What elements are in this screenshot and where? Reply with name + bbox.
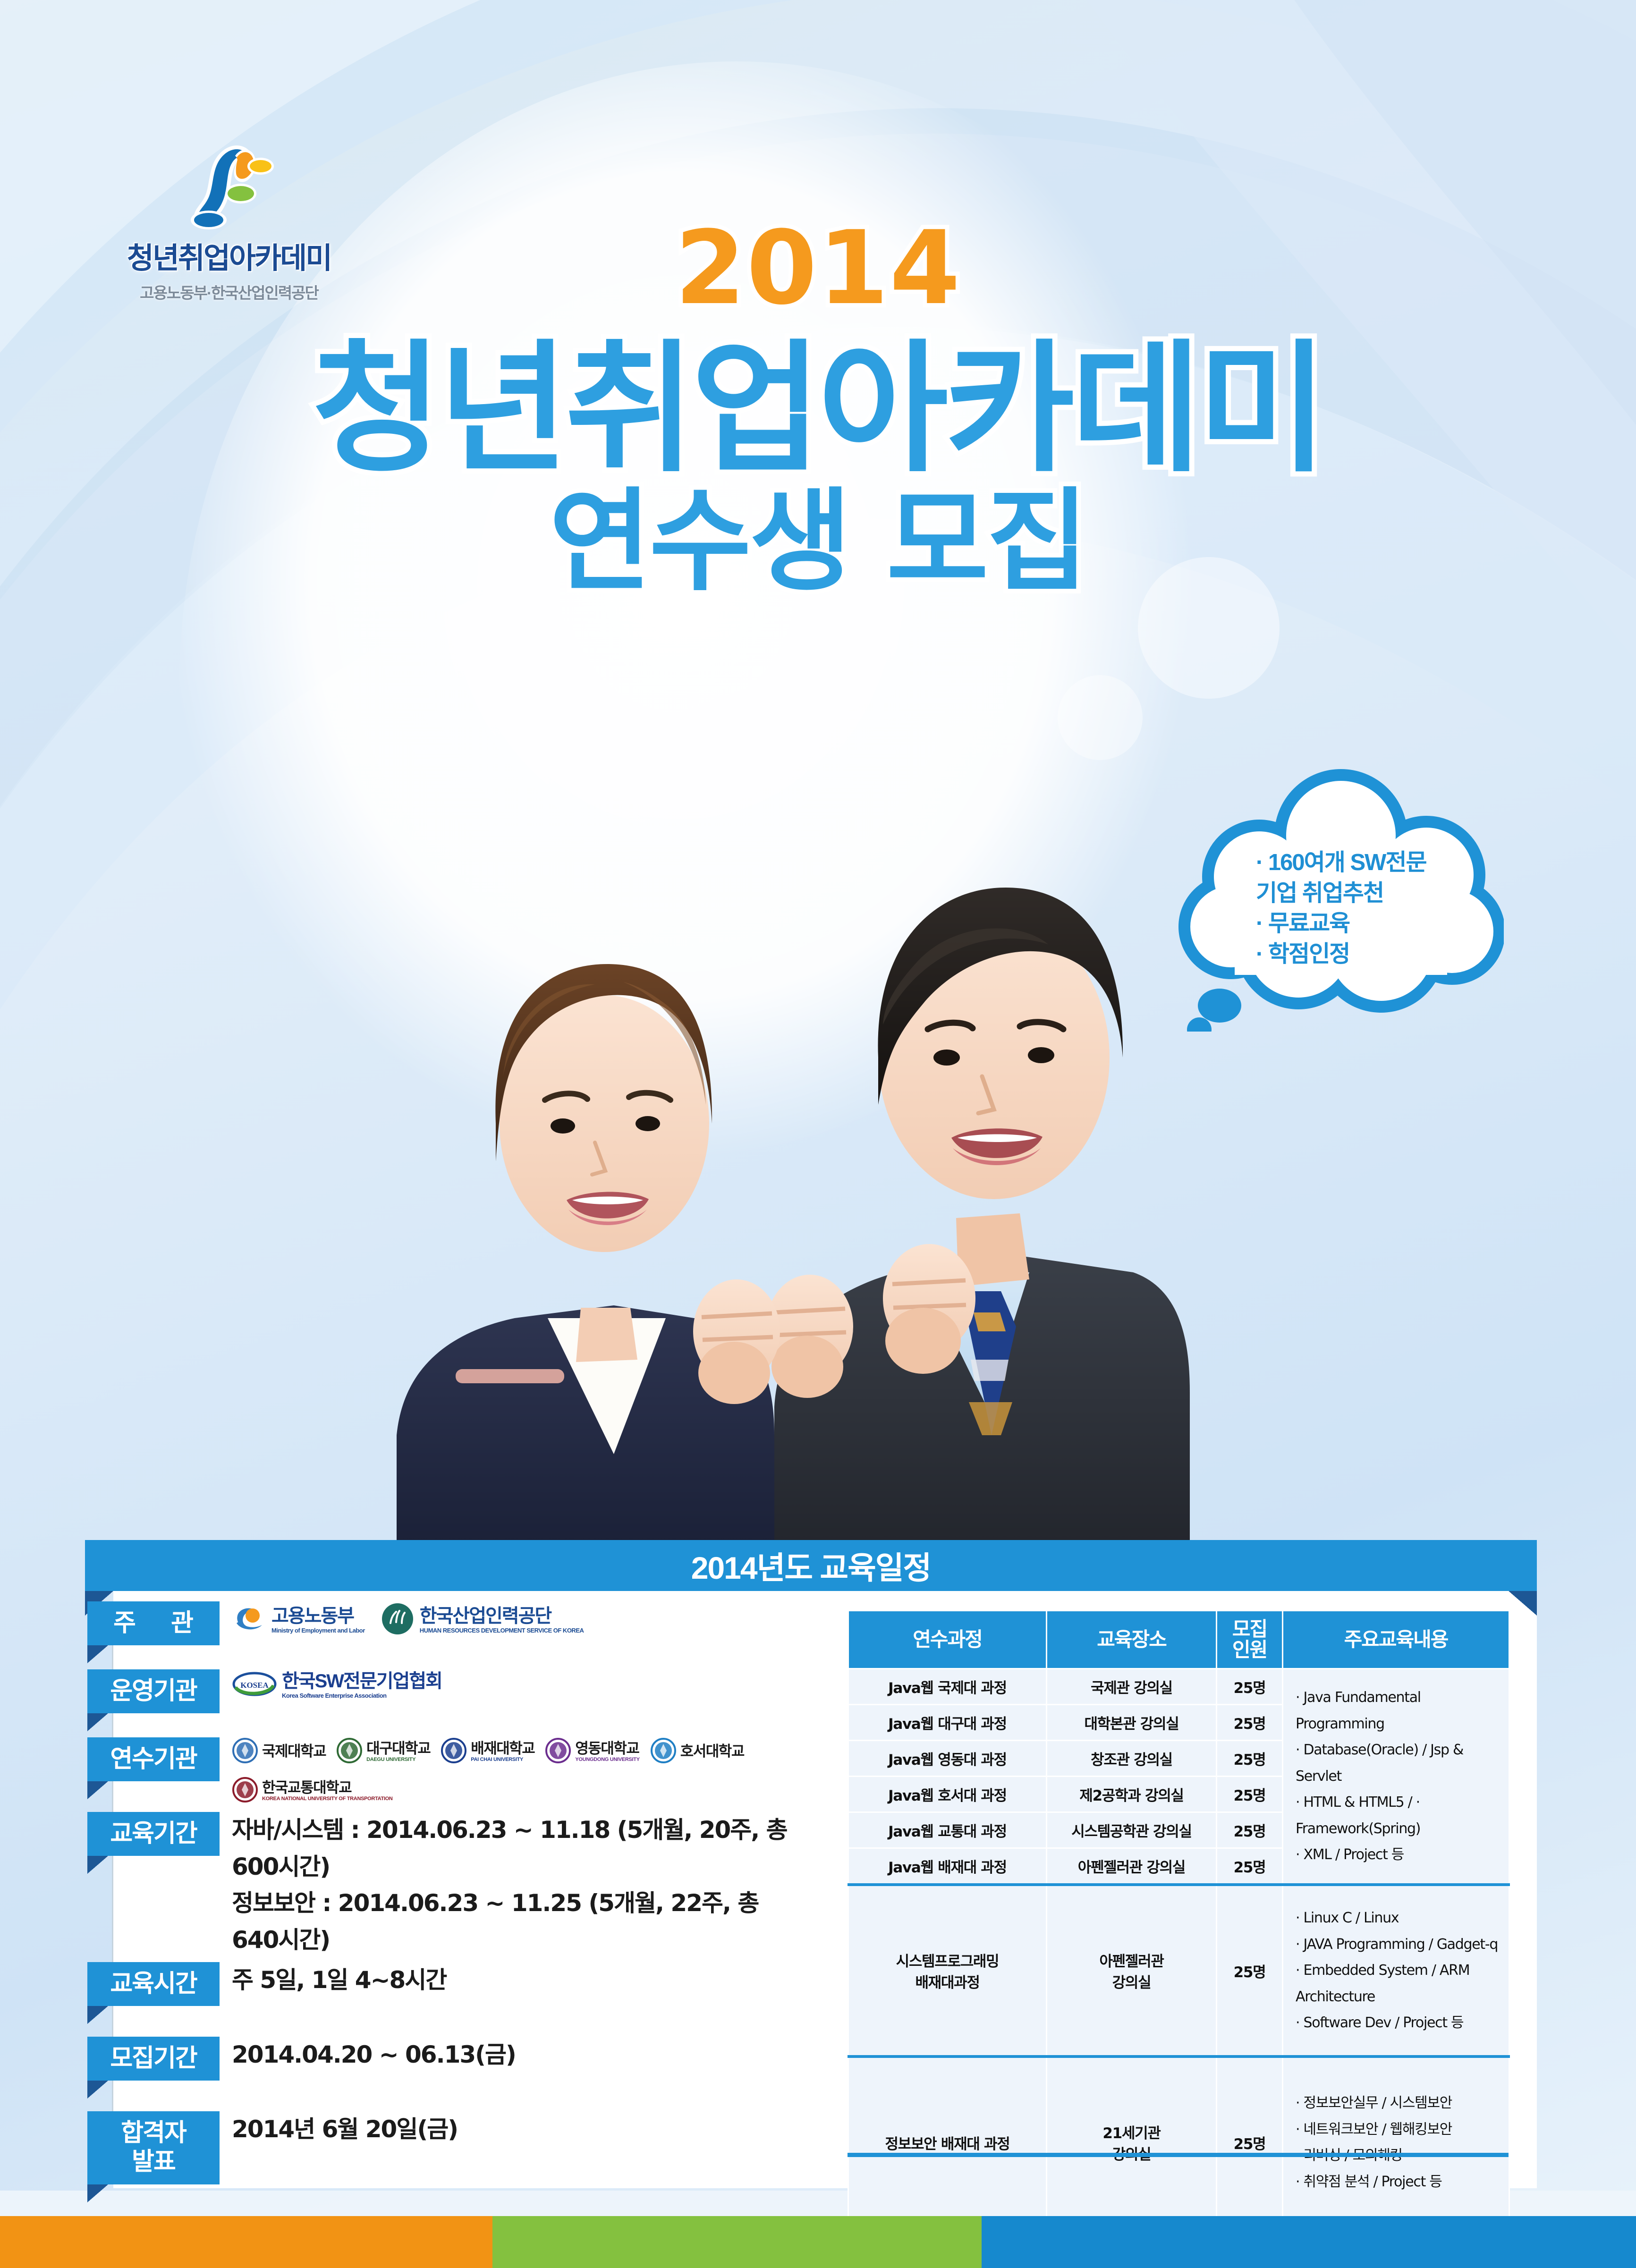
course-place-cell: 아펜젤러관강의실 bbox=[1047, 1885, 1217, 2056]
university-text: 호서대학교 bbox=[680, 1744, 744, 1760]
course-content-cell: · Linux C / Linux· JAVA Programming / Ga… bbox=[1283, 1885, 1509, 2056]
headline-year: 2014 bbox=[0, 217, 1636, 319]
course-content-line: · 정보보안실무 / 시스템보안 bbox=[1296, 2090, 1505, 2116]
label-char: 주 bbox=[113, 1609, 136, 1638]
university-logo-row: 국제대학교대구대학교DAEGU UNIVERSITY배재대학교PAI CHAI … bbox=[232, 1737, 805, 1805]
info-row-label: 주관 bbox=[87, 1601, 220, 1645]
course-quota-cell: 25명 bbox=[1217, 1777, 1283, 1812]
info-row-body: 고용노동부Ministry of Employment and Labor한국산… bbox=[220, 1601, 805, 1639]
info-text-line: 자바/시스템 : 2014.06.23 ~ 11.18 (5개월, 20주, 총… bbox=[232, 1812, 805, 1885]
university-text: 국제대학교 bbox=[262, 1744, 326, 1760]
info-row: 교육기간자바/시스템 : 2014.06.23 ~ 11.18 (5개월, 20… bbox=[87, 1812, 805, 1958]
poster-headline: 2014 청년취업아카데미 연수생 모집 bbox=[0, 217, 1636, 603]
course-place-cell: 창조관 강의실 bbox=[1047, 1741, 1217, 1777]
org-logo: 한국산업인력공단HUMAN RESOURCES DEVELOPMENT SERV… bbox=[380, 1601, 584, 1639]
course-quota-cell: 25명 bbox=[1217, 1669, 1283, 1705]
info-row: 주관고용노동부Ministry of Employment and Labor한… bbox=[87, 1601, 805, 1666]
info-row-body: 국제대학교대구대학교DAEGU UNIVERSITY배재대학교PAI CHAI … bbox=[220, 1737, 805, 1805]
university-name-en: KOREA NATIONAL UNIVERSITY OF TRANSPORTAT… bbox=[262, 1796, 393, 1802]
course-place-cell: 시스템공학관 강의실 bbox=[1047, 1812, 1217, 1848]
org-logo-text: 한국SW전문기업협회Korea Software Enterprise Asso… bbox=[282, 1672, 442, 1699]
schedule-banner: 2014년도 교육일정 bbox=[85, 1540, 1537, 1591]
info-row: 연수기관국제대학교대구대학교DAEGU UNIVERSITY배재대학교PAI C… bbox=[87, 1737, 805, 1808]
moel-circle-icon bbox=[232, 1601, 267, 1639]
university-logo: 한국교통대학교KOREA NATIONAL UNIVERSITY OF TRAN… bbox=[232, 1777, 393, 1805]
course-quota-cell: 25명 bbox=[1217, 1812, 1283, 1848]
university-logo: 대구대학교DAEGU UNIVERSITY bbox=[336, 1737, 430, 1766]
benefit-line-1: · 160여개 SW전문 bbox=[1256, 847, 1478, 878]
bar-segment-green bbox=[492, 2216, 982, 2268]
course-quota-cell: 25명 bbox=[1217, 1705, 1283, 1741]
info-row-body: KOSEA한국SW전문기업협회Korea Software Enterprise… bbox=[220, 1669, 805, 1701]
course-place-cell: 아펜젤러관 강의실 bbox=[1047, 1848, 1217, 1885]
kntu-univ-icon bbox=[232, 1777, 258, 1805]
kosea-oval-icon: KOSEA bbox=[232, 1669, 277, 1701]
course-quota-cell: 25명 bbox=[1217, 1885, 1283, 2056]
label-fold bbox=[87, 2081, 108, 2099]
course-course-cell: 정보보안 배재대 과정 bbox=[848, 2056, 1047, 2228]
course-course-cell: Java웹 국제대 과정 bbox=[848, 1669, 1047, 1705]
daegu-univ-icon bbox=[336, 1737, 363, 1766]
female-student bbox=[397, 964, 780, 1544]
university-text: 배재대학교PAI CHAI UNIVERSITY bbox=[471, 1741, 534, 1762]
info-list: 주관고용노동부Ministry of Employment and Labor한… bbox=[87, 1601, 805, 2205]
info-text-line: 2014.04.20 ~ 06.13(금) bbox=[232, 2037, 805, 2073]
students-photo bbox=[359, 699, 1190, 1544]
course-place-cell: 국제관 강의실 bbox=[1047, 1669, 1217, 1705]
org-name-ko: 한국산업인력공단 bbox=[420, 1607, 584, 1625]
org-name-en: HUMAN RESOURCES DEVELOPMENT SERVICE OF K… bbox=[420, 1627, 584, 1633]
bar-segment-blue bbox=[982, 2216, 1636, 2268]
benefit-line-2: 기업 취업추천 bbox=[1256, 878, 1478, 909]
org-logo: 고용노동부Ministry of Employment and Labor bbox=[232, 1601, 365, 1639]
course-course-cell: Java웹 호서대 과정 bbox=[848, 1777, 1047, 1812]
university-name-ko: 영동대학교 bbox=[575, 1741, 639, 1756]
info-row-label: 합격자발표 bbox=[87, 2111, 220, 2184]
course-place-cell: 대학본관 강의실 bbox=[1047, 1705, 1217, 1741]
benefit-line-4: · 학점인정 bbox=[1256, 939, 1478, 970]
table-row: Java웹 국제대 과정국제관 강의실25명· Java Fundamental… bbox=[848, 1669, 1509, 1705]
university-logo: 호서대학교 bbox=[650, 1737, 744, 1766]
course-table-header-cell: 연수과정 bbox=[848, 1611, 1047, 1669]
info-row-body: 자바/시스템 : 2014.06.23 ~ 11.18 (5개월, 20주, 총… bbox=[220, 1812, 805, 1958]
info-text-line: 주 5일, 1일 4~8시간 bbox=[232, 1962, 805, 1999]
info-row-body: 2014.04.20 ~ 06.13(금) bbox=[220, 2037, 805, 2073]
course-content-cell: · 정보보안실무 / 시스템보안· 네트워크보안 / 웹해킹보안· 리버싱 / … bbox=[1283, 2056, 1509, 2228]
course-quota-cell: 25명 bbox=[1217, 1848, 1283, 1885]
info-row: 합격자발표2014년 6월 20일(금) bbox=[87, 2111, 805, 2201]
course-course-cell: Java웹 대구대 과정 bbox=[848, 1705, 1047, 1741]
course-table-header-cell: 주요교육내용 bbox=[1283, 1611, 1509, 1669]
university-name-ko: 대구대학교 bbox=[366, 1741, 430, 1756]
university-logo: 국제대학교 bbox=[232, 1737, 326, 1766]
university-name-ko: 한국교통대학교 bbox=[262, 1780, 393, 1795]
course-course-cell: 시스템프로그래밍배재대과정 bbox=[848, 1885, 1047, 2056]
university-name-ko: 국제대학교 bbox=[262, 1744, 326, 1759]
university-name-ko: 배재대학교 bbox=[471, 1741, 534, 1756]
info-row-body: 주 5일, 1일 4~8시간 bbox=[220, 1962, 805, 1999]
org-name-en: Korea Software Enterprise Association bbox=[282, 1693, 442, 1699]
label-char: 관 bbox=[171, 1609, 194, 1638]
label-fold bbox=[87, 1856, 108, 1874]
youngdong-univ-icon bbox=[545, 1737, 571, 1766]
headline-line2: 연수생 모집 bbox=[0, 481, 1636, 603]
university-text: 영동대학교YOUNGDONG UNIVERSITY bbox=[575, 1741, 639, 1762]
label-fold bbox=[87, 1713, 108, 1731]
info-row: 운영기관KOSEA한국SW전문기업협회Korea Software Enterp… bbox=[87, 1669, 805, 1734]
male-student bbox=[766, 888, 1190, 1544]
hoseo-univ-icon bbox=[650, 1737, 677, 1766]
course-content-line: · Software Dev / Project 등 bbox=[1296, 2010, 1505, 2036]
university-name-en: PAI CHAI UNIVERSITY bbox=[471, 1757, 534, 1762]
course-course-cell: Java웹 영동대 과정 bbox=[848, 1741, 1047, 1777]
university-name-en: YOUNGDONG UNIVERSITY bbox=[575, 1757, 639, 1762]
university-name-en: DAEGU UNIVERSITY bbox=[366, 1757, 430, 1762]
course-table-bottom-rule bbox=[848, 2153, 1509, 2157]
schedule-banner-title: 2014년도 교육일정 bbox=[691, 1543, 931, 1588]
course-content-line: · HTML & HTML5 / · Framework(Spring) bbox=[1296, 1789, 1505, 1842]
course-quota-cell: 25명 bbox=[1217, 1741, 1283, 1777]
bottom-color-bar bbox=[0, 2216, 1636, 2268]
organization-logo-row: 고용노동부Ministry of Employment and Labor한국산… bbox=[232, 1601, 805, 1639]
bar-segment-orange bbox=[0, 2216, 492, 2268]
info-row-label: 모집기간 bbox=[87, 2037, 220, 2081]
university-logo: 배재대학교PAI CHAI UNIVERSITY bbox=[441, 1737, 534, 1766]
info-row-label: 교육기간 bbox=[87, 1812, 220, 1856]
label-fold bbox=[87, 1781, 108, 1799]
course-content-line: · Linux C / Linux bbox=[1296, 1905, 1505, 1931]
svg-text:KOSEA: KOSEA bbox=[240, 1681, 269, 1690]
course-content-line: · Database(Oracle) / Jsp & Servlet bbox=[1296, 1737, 1505, 1789]
organization-logo-row: KOSEA한국SW전문기업협회Korea Software Enterprise… bbox=[232, 1669, 805, 1701]
course-table: 연수과정교육장소모집인원주요교육내용Java웹 국제대 과정국제관 강의실25명… bbox=[848, 1610, 1510, 2228]
label-fold bbox=[87, 1645, 108, 1663]
info-row-label: 교육시간 bbox=[87, 1962, 220, 2006]
info-row: 교육시간주 5일, 1일 4~8시간 bbox=[87, 1962, 805, 2033]
benefits-text: · 160여개 SW전문 기업 취업추천 · 무료교육 · 학점인정 bbox=[1256, 847, 1478, 970]
university-logo: 영동대학교YOUNGDONG UNIVERSITY bbox=[545, 1737, 639, 1766]
course-quota-cell: 25명 bbox=[1217, 2056, 1283, 2228]
course-content-line: · XML / Project 등 bbox=[1296, 1842, 1505, 1868]
headline-line1: 청년취업아카데미 bbox=[0, 333, 1636, 486]
label-fold bbox=[87, 2006, 108, 2024]
hrdkorea-circle-icon bbox=[380, 1601, 415, 1639]
course-content-line: · 네트워크보안 / 웹해킹보안 bbox=[1296, 2116, 1505, 2143]
label-fold bbox=[87, 2184, 108, 2202]
paichai-univ-icon bbox=[441, 1737, 467, 1766]
university-text: 대구대학교DAEGU UNIVERSITY bbox=[366, 1741, 430, 1762]
org-name-en: Ministry of Employment and Labor bbox=[271, 1627, 365, 1633]
org-logo: KOSEA한국SW전문기업협회Korea Software Enterprise… bbox=[232, 1669, 442, 1701]
org-logo-text: 한국산업인력공단HUMAN RESOURCES DEVELOPMENT SERV… bbox=[420, 1607, 584, 1633]
course-place-cell: 21세기관강의실 bbox=[1047, 2056, 1217, 2228]
course-table-header-cell: 교육장소 bbox=[1047, 1611, 1217, 1669]
course-content-line: · Java Fundamental Programming bbox=[1296, 1684, 1505, 1737]
info-row: 모집기간2014.04.20 ~ 06.13(금) bbox=[87, 2037, 805, 2107]
course-table-header-cell: 모집인원 bbox=[1217, 1611, 1283, 1669]
info-row-label: 운영기관 bbox=[87, 1669, 220, 1713]
table-row: 시스템프로그래밍배재대과정아펜젤러관강의실25명· Linux C / Linu… bbox=[848, 1885, 1509, 2056]
banner-fold-right bbox=[1509, 1591, 1537, 1616]
course-place-cell: 제2공학과 강의실 bbox=[1047, 1777, 1217, 1812]
kukje-univ-icon bbox=[232, 1737, 258, 1766]
course-content-line: · 취약점 분석 / Project 등 bbox=[1296, 2169, 1505, 2195]
benefit-line-3: · 무료교육 bbox=[1256, 908, 1478, 939]
info-row-label: 연수기관 bbox=[87, 1737, 220, 1781]
university-name-ko: 호서대학교 bbox=[680, 1744, 744, 1759]
table-row: 정보보안 배재대 과정21세기관강의실25명· 정보보안실무 / 시스템보안· … bbox=[848, 2056, 1509, 2228]
info-row-body: 2014년 6월 20일(금) bbox=[220, 2111, 805, 2148]
course-content-cell: · Java Fundamental Programming· Database… bbox=[1283, 1669, 1509, 1885]
info-text-line: 정보보안 : 2014.06.23 ~ 11.25 (5개월, 22주, 총 6… bbox=[232, 1885, 805, 1958]
org-logo-text: 고용노동부Ministry of Employment and Labor bbox=[271, 1607, 365, 1633]
course-content-line: · JAVA Programming / Gadget-q bbox=[1296, 1931, 1505, 1958]
org-name-ko: 한국SW전문기업협회 bbox=[282, 1672, 442, 1691]
org-name-ko: 고용노동부 bbox=[271, 1607, 365, 1625]
course-content-line: · Embedded System / ARM Architecture bbox=[1296, 1957, 1505, 2010]
course-course-cell: Java웹 배재대 과정 bbox=[848, 1848, 1047, 1885]
course-course-cell: Java웹 교통대 과정 bbox=[848, 1812, 1047, 1848]
info-text-line: 2014년 6월 20일(금) bbox=[232, 2111, 805, 2148]
university-text: 한국교통대학교KOREA NATIONAL UNIVERSITY OF TRAN… bbox=[262, 1780, 393, 1802]
course-table-header-row: 연수과정교육장소모집인원주요교육내용 bbox=[848, 1611, 1509, 1669]
